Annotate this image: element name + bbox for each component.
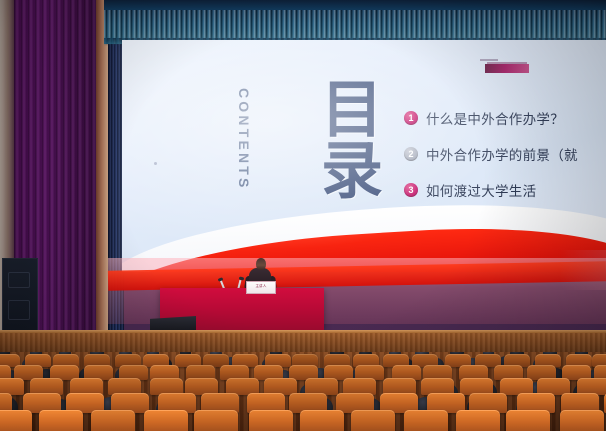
projection-screen: CONTENTS 目录 1 什么是中外合作办学？ 2 中外合作办学的前景（就 3…: [122, 40, 606, 272]
auditorium-seat: [249, 410, 293, 431]
auditorium-seat: [300, 410, 344, 431]
agenda-number-badge-1: 1: [404, 111, 418, 125]
pa-speaker-cabinet: [2, 258, 38, 336]
slide-decoration-tick: [480, 59, 498, 61]
screen-dust-speck: [154, 162, 157, 165]
podium-nameplate-text: 主讲人: [247, 282, 275, 291]
slide-agenda-list: 1 什么是中外合作办学？ 2 中外合作办学的前景（就 3 如何渡过大学生活: [404, 100, 606, 208]
stage-edge-lip: [0, 330, 606, 333]
slide-heading-chinese: 目录: [304, 80, 400, 202]
auditorium-seat: [404, 410, 448, 431]
audience-area: [0, 352, 606, 431]
auditorium-seat: [351, 410, 395, 431]
slide-accent-bar: [485, 64, 529, 73]
auditorium-seat: [456, 410, 500, 431]
slide-heading-english: CONTENTS: [236, 88, 252, 191]
auditorium-seat: [39, 410, 83, 431]
stage-right-shadow: [560, 250, 606, 290]
speaker-head: [256, 258, 266, 270]
list-item: 1 什么是中外合作办学？: [404, 100, 606, 136]
agenda-item-text-2: 中外合作办学的前景（就: [426, 144, 578, 164]
agenda-number-badge-3: 3: [404, 183, 418, 197]
pa-speaker-grille-bottom: [8, 300, 30, 320]
agenda-number-badge-2: 2: [404, 147, 418, 161]
auditorium-seat: [560, 410, 604, 431]
agenda-item-text-1: 什么是中外合作办学？: [426, 108, 564, 128]
agenda-item-text-3: 如何渡过大学生活: [426, 180, 536, 200]
auditorium-photo: CONTENTS 目录 1 什么是中外合作办学？ 2 中外合作办学的前景（就 3…: [0, 0, 606, 431]
auditorium-seat: [91, 410, 135, 431]
auditorium-seat: [0, 410, 32, 431]
pa-speaker-grille-top: [8, 272, 30, 288]
list-item: 3 如何渡过大学生活: [404, 172, 606, 208]
auditorium-seat: [144, 410, 188, 431]
list-item: 2 中外合作办学的前景（就: [404, 136, 606, 172]
auditorium-seat: [506, 410, 550, 431]
podium-nameplate: 主讲人: [246, 281, 276, 294]
auditorium-seat: [194, 410, 238, 431]
